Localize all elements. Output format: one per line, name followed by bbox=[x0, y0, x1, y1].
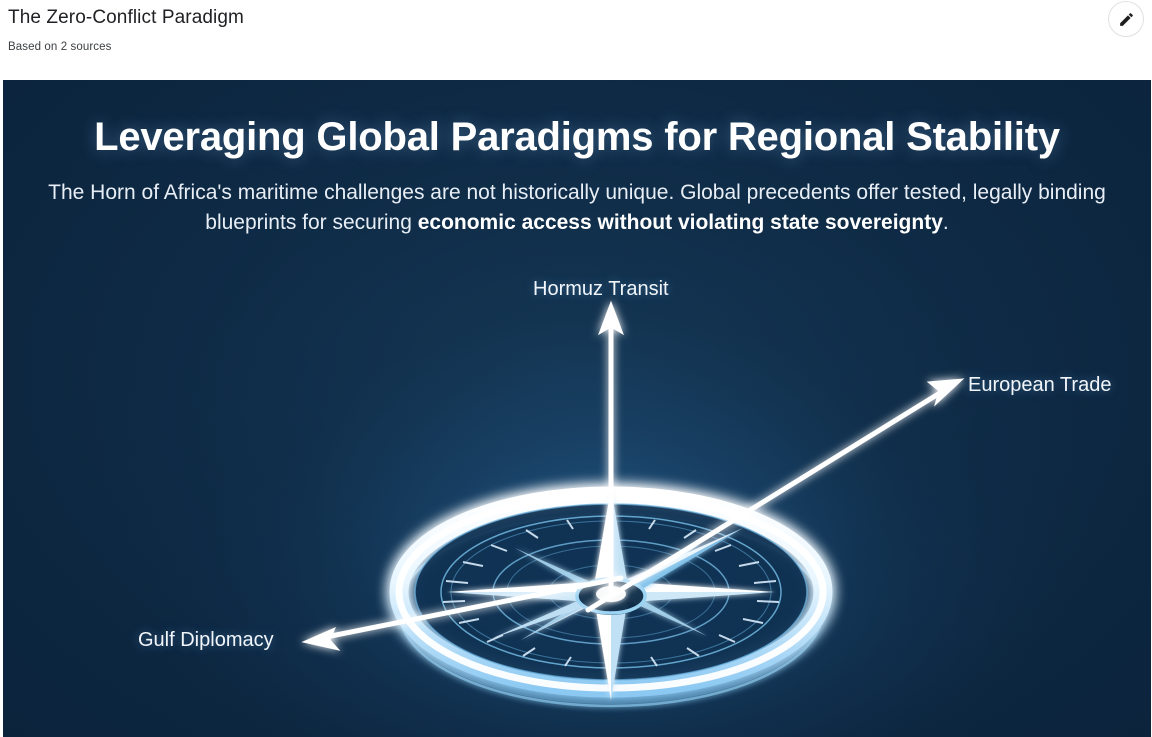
pencil-icon bbox=[1118, 11, 1135, 28]
callout-label-gulf-diplomacy: Gulf Diplomacy bbox=[138, 629, 274, 652]
edit-button[interactable] bbox=[1108, 1, 1144, 37]
callout-label-hormuz-transit: Hormuz Transit bbox=[533, 278, 669, 301]
app-header: The Zero-Conflict Paradigm Based on 2 so… bbox=[0, 0, 1152, 80]
page-title: The Zero-Conflict Paradigm bbox=[8, 6, 1152, 30]
source-count-label: Based on 2 sources bbox=[8, 39, 1152, 55]
callout-label-european-trade: European Trade bbox=[968, 374, 1111, 397]
slide-panel: Leveraging Global Paradigms for Regional… bbox=[3, 80, 1151, 737]
compass-graphic: Hormuz Transit European Trade Gulf Diplo… bbox=[3, 80, 1151, 737]
